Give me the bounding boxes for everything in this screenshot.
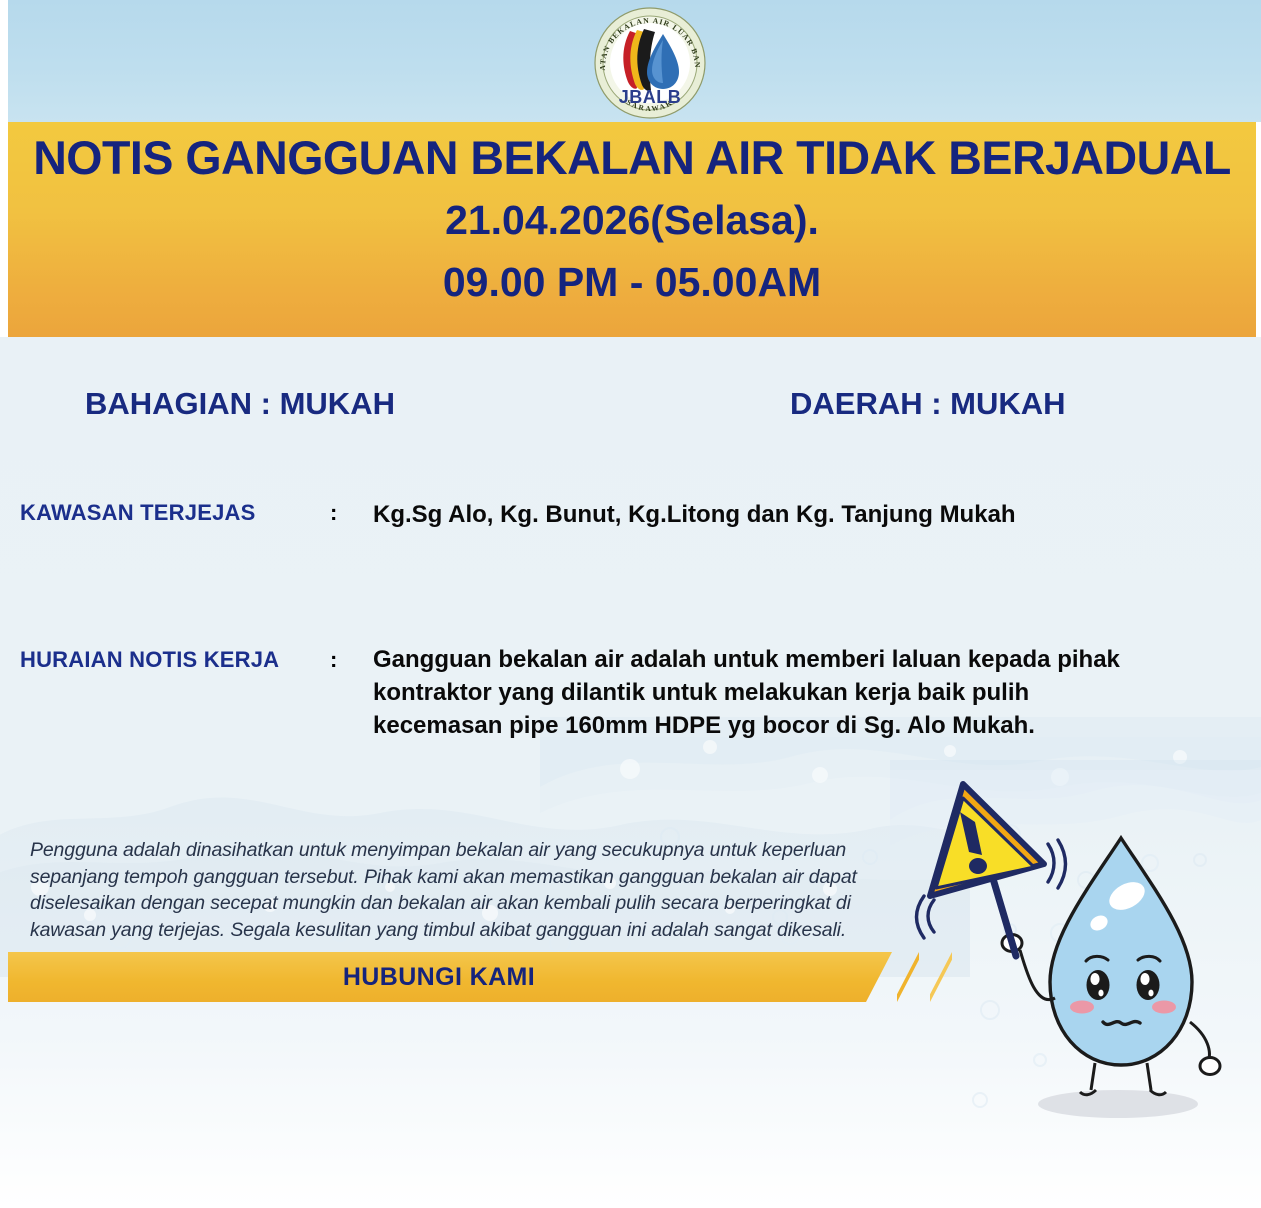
works-description-value: Gangguan bekalan air adalah untuk member… <box>373 643 1163 742</box>
division-label: BAHAGIAN : MUKAH <box>85 386 395 422</box>
affected-areas-label: KAWASAN TERJEJAS <box>20 500 255 526</box>
affected-areas-colon: : <box>330 500 337 526</box>
bar-stripe-one <box>897 952 919 1002</box>
contact-bar-heading: HUBUNGI KAMI <box>8 952 870 1002</box>
bar-stripe-two <box>930 952 952 1002</box>
title-banner: NOTIS GANGGUAN BEKALAN AIR TIDAK BERJADU… <box>8 122 1256 337</box>
works-description-colon: : <box>330 647 337 673</box>
district-label: DAERAH : MUKAH <box>790 386 1066 422</box>
banner-time: 09.00 PM - 05.00AM <box>8 252 1256 312</box>
affected-areas-value: Kg.Sg Alo, Kg. Bunut, Kg.Litong dan Kg. … <box>373 498 1016 531</box>
notice-body: BAHAGIAN : MUKAH DAERAH : MUKAH KAWASAN … <box>0 337 1261 1208</box>
advisory-note: Pengguna adalah dinasihatkan untuk menyi… <box>30 837 906 943</box>
contact-bar: HUBUNGI KAMI <box>8 952 892 1002</box>
banner-title-line1: NOTIS GANGGUAN BEKALAN AIR TIDAK BERJADU… <box>14 128 1250 188</box>
banner-date: 21.04.2026(Selasa). <box>8 188 1256 252</box>
logo-center-text: JBALB <box>619 87 682 107</box>
header-band: JABATAN BEKALAN AIR LUAR BANDAR SARAWAK … <box>8 0 1261 122</box>
notice-poster: JABATAN BEKALAN AIR LUAR BANDAR SARAWAK … <box>0 0 1261 1208</box>
jbalb-logo: JABATAN BEKALAN AIR LUAR BANDAR SARAWAK … <box>591 6 709 120</box>
works-description-label: HURAIAN NOTIS KERJA <box>20 647 279 673</box>
